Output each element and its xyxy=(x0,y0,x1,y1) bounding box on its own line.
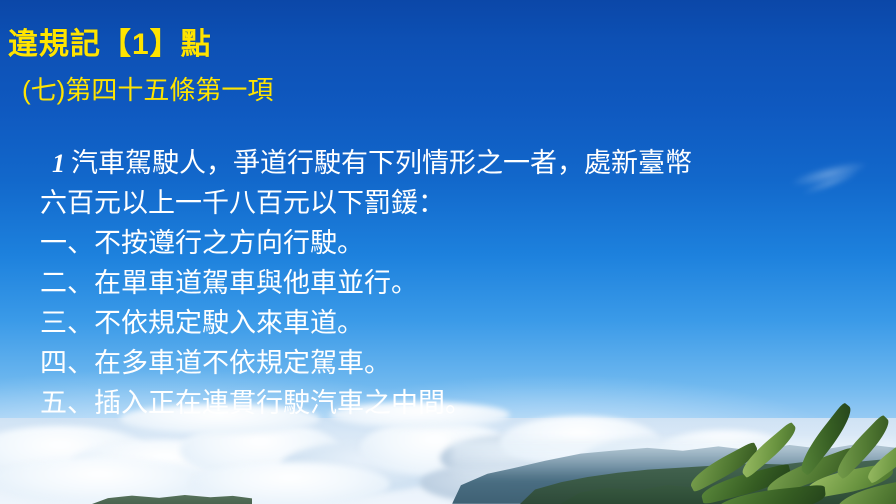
body-line: 四、在多車道不依規定駕車。 xyxy=(40,343,870,383)
body-line: 五、插入正在連貫行駛汽車之中間。 xyxy=(40,383,870,423)
foreground-foliage xyxy=(676,412,896,504)
body-line-text: 汽車駕駛人，爭道行駛有下列情形之一者，處新臺幣 xyxy=(71,148,692,178)
slide-body: 1汽車駕駛人，爭道行駛有下列情形之一者，處新臺幣 六百元以上一千八百元以下罰鍰：… xyxy=(40,143,870,423)
body-line-text: 六百元以上一千八百元以下罰鍰： xyxy=(40,188,445,218)
body-line: 三、不依規定駛入來車道。 xyxy=(40,303,870,343)
body-line-text: 一、不按遵行之方向行駛。 xyxy=(40,228,364,258)
body-line-text: 二、在單車道駕車與他車並行。 xyxy=(40,268,418,298)
body-line: 1汽車駕駛人，爭道行駛有下列情形之一者，處新臺幣 xyxy=(40,143,870,183)
body-line: 二、在單車道駕車與他車並行。 xyxy=(40,263,870,303)
body-line-text: 四、在多車道不依規定駕車。 xyxy=(40,348,391,378)
body-line-text: 三、不依規定駛入來車道。 xyxy=(40,308,364,338)
body-line: 六百元以上一千八百元以下罰鍰： xyxy=(40,183,870,223)
slide-subtitle: (七)第四十五條第一項 xyxy=(22,70,273,107)
article-marker: 1 xyxy=(52,149,71,178)
slide-title: 違規記【1】點 xyxy=(8,19,212,63)
body-line: 一、不按遵行之方向行駛。 xyxy=(40,223,870,263)
body-line-text: 五、插入正在連貫行駛汽車之中間。 xyxy=(40,388,472,418)
presentation-slide: 違規記【1】點 (七)第四十五條第一項 1汽車駕駛人，爭道行駛有下列情形之一者，… xyxy=(0,0,896,504)
